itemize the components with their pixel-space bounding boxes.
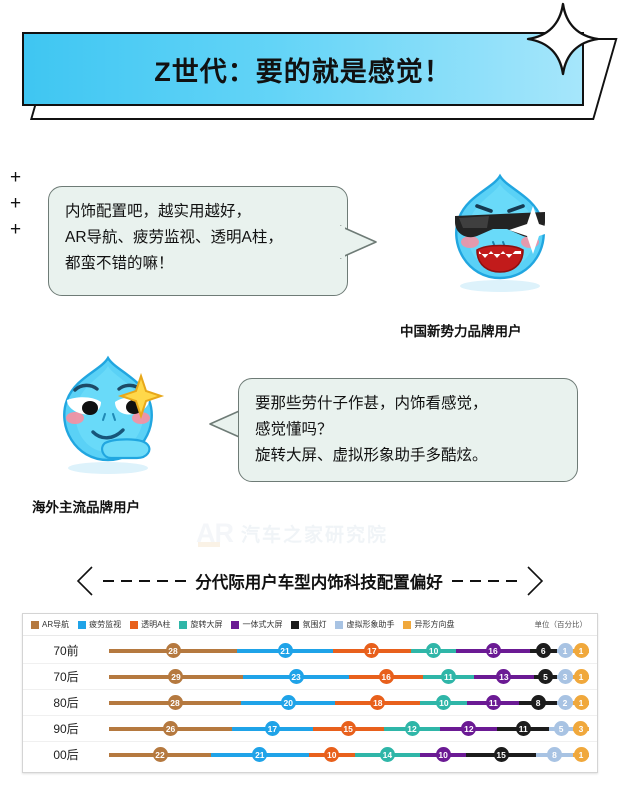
segment-value-badge: 5	[554, 721, 569, 736]
bar-segment-0[interactable]: 29	[109, 664, 243, 689]
bar-segment-5[interactable]: 6	[530, 638, 557, 663]
segment-value-badge: 17	[364, 643, 379, 658]
table-row: 00后22211014101581	[23, 742, 597, 767]
segment-value-badge: 13	[496, 669, 511, 684]
segment-value-badge: 6	[536, 643, 551, 658]
legend-item-4[interactable]: 一体式大屏	[231, 619, 282, 630]
legend-swatch-icon	[179, 621, 187, 629]
row-label: 70前	[23, 642, 109, 659]
segment-value-badge: 15	[494, 747, 509, 762]
bubble-overseas-line-1: 要那些劳什子作甚，内饰看感觉，	[255, 391, 561, 417]
bar-segment-7[interactable]: 3	[573, 716, 589, 741]
bar-segment-5[interactable]: 5	[534, 664, 557, 689]
segment-value-badge: 5	[538, 669, 553, 684]
legend-label: 氛围灯	[302, 619, 326, 630]
legend-item-3[interactable]: 旋转大屏	[179, 619, 222, 630]
bubble-china-line-3: 都蛮不错的嘛！	[65, 251, 331, 277]
legend-item-2[interactable]: 透明A柱	[130, 619, 170, 630]
segment-value-badge: 8	[531, 695, 546, 710]
section-title: 分代际用户车型内饰科技配置偏好	[195, 569, 443, 593]
row-label: 90后	[23, 720, 109, 737]
segment-value-badge: 10	[426, 643, 441, 658]
bar-segment-4[interactable]: 13	[474, 664, 534, 689]
bar-segment-3[interactable]: 14	[355, 742, 420, 767]
bar-segment-7[interactable]: 1	[573, 664, 589, 689]
legend-swatch-icon	[130, 621, 138, 629]
plus-mark-2: +	[10, 191, 21, 217]
bar-segment-6[interactable]: 8	[536, 742, 573, 767]
legend-label: 透明A柱	[141, 619, 170, 630]
bar-segment-4[interactable]: 16	[456, 638, 529, 663]
segment-value-badge: 11	[516, 721, 531, 736]
segment-value-badge: 17	[265, 721, 280, 736]
segment-value-badge: 29	[168, 669, 183, 684]
bar-segment-6[interactable]: 3	[557, 664, 573, 689]
legend-item-1[interactable]: 疲劳监视	[78, 619, 121, 630]
legend-item-5[interactable]: 氛围灯	[291, 619, 326, 630]
segment-value-badge: 12	[405, 721, 420, 736]
table-row: 90后26171512121153	[23, 716, 597, 742]
segment-value-badge: 10	[436, 747, 451, 762]
chart-unit-label: 单位（百分比）	[535, 619, 590, 630]
legend-label: 异形方向盘	[414, 619, 454, 630]
plus-mark-1: +	[10, 165, 21, 191]
stacked-bar: 2923161113531	[109, 664, 589, 689]
bar-segment-2[interactable]: 17	[333, 638, 411, 663]
segment-value-badge: 10	[324, 747, 339, 762]
bar-segment-7[interactable]: 1	[573, 638, 589, 663]
bar-segment-3[interactable]: 11	[423, 664, 474, 689]
legend-item-6[interactable]: 虚拟形象助手	[335, 619, 394, 630]
preference-chart: AR导航疲劳监视透明A柱旋转大屏一体式大屏氛围灯虚拟形象助手异形方向盘单位（百分…	[22, 613, 598, 773]
row-label: 70后	[23, 668, 109, 685]
bubble-overseas-line-2: 感觉懂吗？	[255, 417, 561, 443]
speech-bubble-overseas: 要那些劳什子作甚，内饰看感觉， 感觉懂吗？ 旋转大屏、虚拟形象助手多酷炫。	[238, 378, 578, 482]
legend-item-0[interactable]: AR导航	[31, 619, 69, 630]
segment-value-badge: 26	[163, 721, 178, 736]
table-row: 70前2821171016611	[23, 638, 597, 664]
segment-value-badge: 10	[436, 695, 451, 710]
bar-segment-1[interactable]: 20	[241, 690, 335, 715]
bar-segment-0[interactable]: 26	[109, 716, 232, 741]
segment-value-badge: 14	[380, 747, 395, 762]
stacked-bar: 22211014101581	[109, 742, 589, 767]
bar-segment-3[interactable]: 12	[384, 716, 441, 741]
speech-bubble-china: 内饰配置吧，越实用越好， AR导航、疲劳监视、透明A柱， 都蛮不错的嘛！	[48, 186, 348, 296]
bar-segment-7[interactable]: 1	[573, 742, 589, 767]
bar-segment-1[interactable]: 21	[237, 638, 333, 663]
segment-value-badge: 11	[486, 695, 501, 710]
bar-segment-6[interactable]: 1	[557, 638, 573, 663]
chart-legend: AR导航疲劳监视透明A柱旋转大屏一体式大屏氛围灯虚拟形象助手异形方向盘单位（百分…	[23, 614, 597, 636]
bubble-china-line-2: AR导航、疲劳监视、透明A柱，	[65, 225, 331, 251]
poster-root: Z世代：要的就是感觉！ + + + 内饰配置吧，越实用越好， AR导航、疲劳监视…	[0, 0, 620, 804]
banner-body: Z世代：要的就是感觉！	[22, 32, 584, 106]
segment-value-badge: 2	[558, 695, 573, 710]
bar-segment-5[interactable]: 8	[519, 690, 557, 715]
bar-segment-2[interactable]: 10	[309, 742, 355, 767]
segment-value-badge: 28	[166, 643, 181, 658]
chevron-left-icon	[76, 566, 94, 596]
legend-label: 一体式大屏	[242, 619, 282, 630]
bar-segment-1[interactable]: 17	[232, 716, 312, 741]
segment-value-badge: 23	[289, 669, 304, 684]
table-row: 80后2820181011821	[23, 690, 597, 716]
segment-value-badge: 16	[379, 669, 394, 684]
bar-segment-3[interactable]: 10	[411, 638, 457, 663]
bubble-overseas-line-3: 旋转大屏、虚拟形象助手多酷炫。	[255, 443, 561, 469]
segment-value-badge: 3	[573, 721, 588, 736]
bar-segment-6[interactable]: 5	[549, 716, 573, 741]
section-header: 分代际用户车型内饰科技配置偏好	[0, 560, 620, 602]
character-china-label: 中国新势力品牌用户	[400, 320, 522, 340]
segment-value-badge: 1	[574, 669, 589, 684]
plus-decoration: + + +	[10, 165, 21, 243]
segment-value-badge: 21	[278, 643, 293, 658]
legend-swatch-icon	[403, 621, 411, 629]
segment-value-badge: 1	[558, 643, 573, 658]
segment-value-badge: 22	[153, 747, 168, 762]
bar-segment-2[interactable]: 16	[349, 664, 423, 689]
bar-segment-3[interactable]: 10	[420, 690, 467, 715]
legend-label: 旋转大屏	[190, 619, 222, 630]
row-label: 00后	[23, 746, 109, 763]
bar-segment-0[interactable]: 28	[109, 690, 241, 715]
watermark-logo: AR	[196, 518, 233, 549]
stacked-bar: 26171512121153	[109, 716, 589, 741]
segment-value-badge: 21	[252, 747, 267, 762]
bar-segment-5[interactable]: 11	[497, 716, 549, 741]
dash-right	[452, 580, 517, 582]
legend-swatch-icon	[231, 621, 239, 629]
segment-value-badge: 1	[574, 695, 589, 710]
bar-segment-7[interactable]: 1	[573, 690, 589, 715]
segment-value-badge: 18	[370, 695, 385, 710]
bar-segment-0[interactable]: 28	[109, 638, 237, 663]
character-overseas-label: 海外主流品牌用户	[32, 496, 140, 516]
bar-segment-2[interactable]: 18	[335, 690, 420, 715]
legend-label: 疲劳监视	[89, 619, 121, 630]
legend-label: AR导航	[42, 619, 69, 630]
table-row: 70后2923161113531	[23, 664, 597, 690]
dash-left	[103, 580, 186, 582]
segment-value-badge: 12	[461, 721, 476, 736]
plus-mark-3: +	[10, 217, 21, 243]
stacked-bar: 2821171016611	[109, 638, 589, 663]
segment-value-badge: 20	[281, 695, 296, 710]
bar-segment-5[interactable]: 15	[466, 742, 536, 767]
segment-value-badge: 3	[558, 669, 573, 684]
watermark-text: 汽车之家研究院	[241, 520, 388, 547]
bar-segment-6[interactable]: 2	[557, 690, 573, 715]
bubble-tail-china	[340, 222, 378, 262]
bar-segment-4[interactable]: 12	[440, 716, 497, 741]
header-banner: Z世代：要的就是感觉！	[0, 0, 620, 150]
legend-swatch-icon	[335, 621, 343, 629]
segment-value-badge: 8	[547, 747, 562, 762]
bar-segment-0[interactable]: 22	[109, 742, 211, 767]
segment-value-badge: 11	[441, 669, 456, 684]
bar-segment-1[interactable]: 23	[243, 664, 349, 689]
sparkle-icon	[526, 2, 600, 76]
bubble-china-line-1: 内饰配置吧，越实用越好，	[65, 199, 331, 225]
bar-segment-1[interactable]: 21	[211, 742, 308, 767]
row-label: 80后	[23, 694, 109, 711]
chevron-right-icon	[526, 566, 544, 596]
segment-value-badge: 1	[574, 643, 589, 658]
segment-value-badge: 16	[486, 643, 501, 658]
legend-item-7[interactable]: 异形方向盘	[403, 619, 454, 630]
bar-segment-4[interactable]: 11	[467, 690, 519, 715]
legend-swatch-icon	[31, 621, 39, 629]
bar-segment-4[interactable]: 10	[420, 742, 466, 767]
legend-swatch-icon	[291, 621, 299, 629]
page-title: Z世代：要的就是感觉！	[154, 50, 452, 89]
segment-value-badge: 28	[168, 695, 183, 710]
character-china-avatar	[437, 166, 563, 296]
chart-rows: 70前282117101661170后292316111353180后28201…	[23, 636, 597, 767]
legend-label: 虚拟形象助手	[346, 619, 394, 630]
stacked-bar: 2820181011821	[109, 690, 589, 715]
character-overseas-avatar	[45, 348, 171, 478]
bar-segment-2[interactable]: 15	[313, 716, 384, 741]
segment-value-badge: 15	[341, 721, 356, 736]
watermark: AR 汽车之家研究院	[196, 518, 388, 549]
segment-value-badge: 1	[574, 747, 589, 762]
legend-swatch-icon	[78, 621, 86, 629]
